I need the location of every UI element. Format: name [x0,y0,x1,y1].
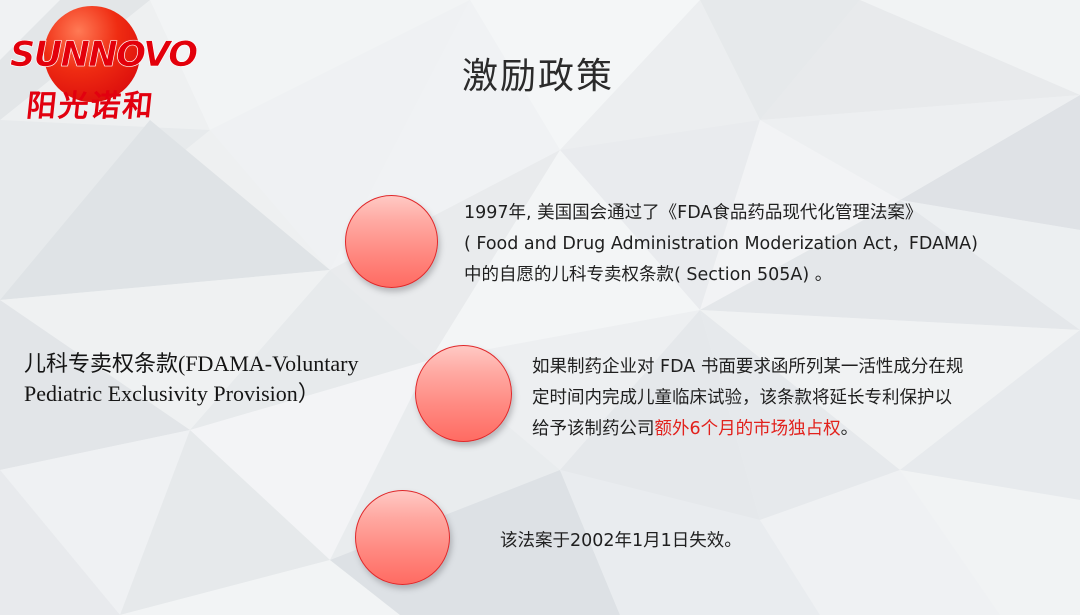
bullet-2-line-2: 定时间内完成儿童临床试验，该条款将延长专利保护以 [532,383,963,414]
page-title: 激励政策 [462,47,614,99]
bullet-2-line-3-prefix: 给予该制药公司 [532,419,655,439]
bullet-text-1: 1997年, 美国国会通过了《FDA食品药品现代化管理法案》 ( Food an… [464,198,978,291]
bullet-marker-circle-2 [415,345,512,442]
bullet-text-3: 该法案于2002年1月1日失效。 [500,526,742,557]
bullet-2-line-3-suffix: 。 [841,419,859,439]
bullet-text-2: 如果制药企业对 FDA 书面要求函所列某一活性成分在规 定时间内完成儿童临床试验… [532,352,963,445]
logo-wordmark: SUNNOVO [10,38,171,73]
side-label-line-2: Pediatric Exclusivity Provision） [24,379,424,409]
logo-chinese-name: 阳光诺和 [8,90,172,123]
bullet-1-line-1: 1997年, 美国国会通过了《FDA食品药品现代化管理法案》 [464,198,978,229]
bullet-2-line-3: 给予该制药公司额外6个月的市场独占权。 [532,414,963,445]
bullet-marker-circle-3 [355,490,450,585]
bullet-2-line-1: 如果制药企业对 FDA 书面要求函所列某一活性成分在规 [532,352,963,383]
side-label: 儿科专卖权条款(FDAMA-Voluntary Pediatric Exclus… [24,349,424,409]
bullet-1-line-3: 中的自愿的儿科专卖权条款( Section 505A) 。 [464,260,978,291]
bullet-marker-circle-1 [345,195,438,288]
bullet-2-highlight: 额外6个月的市场独占权 [655,419,841,439]
company-logo: SUNNOVO 阳光诺和 [8,2,173,142]
bullet-1-line-2: ( Food and Drug Administration Moderizat… [464,229,978,260]
side-label-line-1: 儿科专卖权条款(FDAMA-Voluntary [24,349,424,379]
bullet-3-line-1: 该法案于2002年1月1日失效。 [500,526,742,557]
slide-canvas: SUNNOVO 阳光诺和 激励政策 儿科专卖权条款(FDAMA-Voluntar… [0,0,1080,615]
